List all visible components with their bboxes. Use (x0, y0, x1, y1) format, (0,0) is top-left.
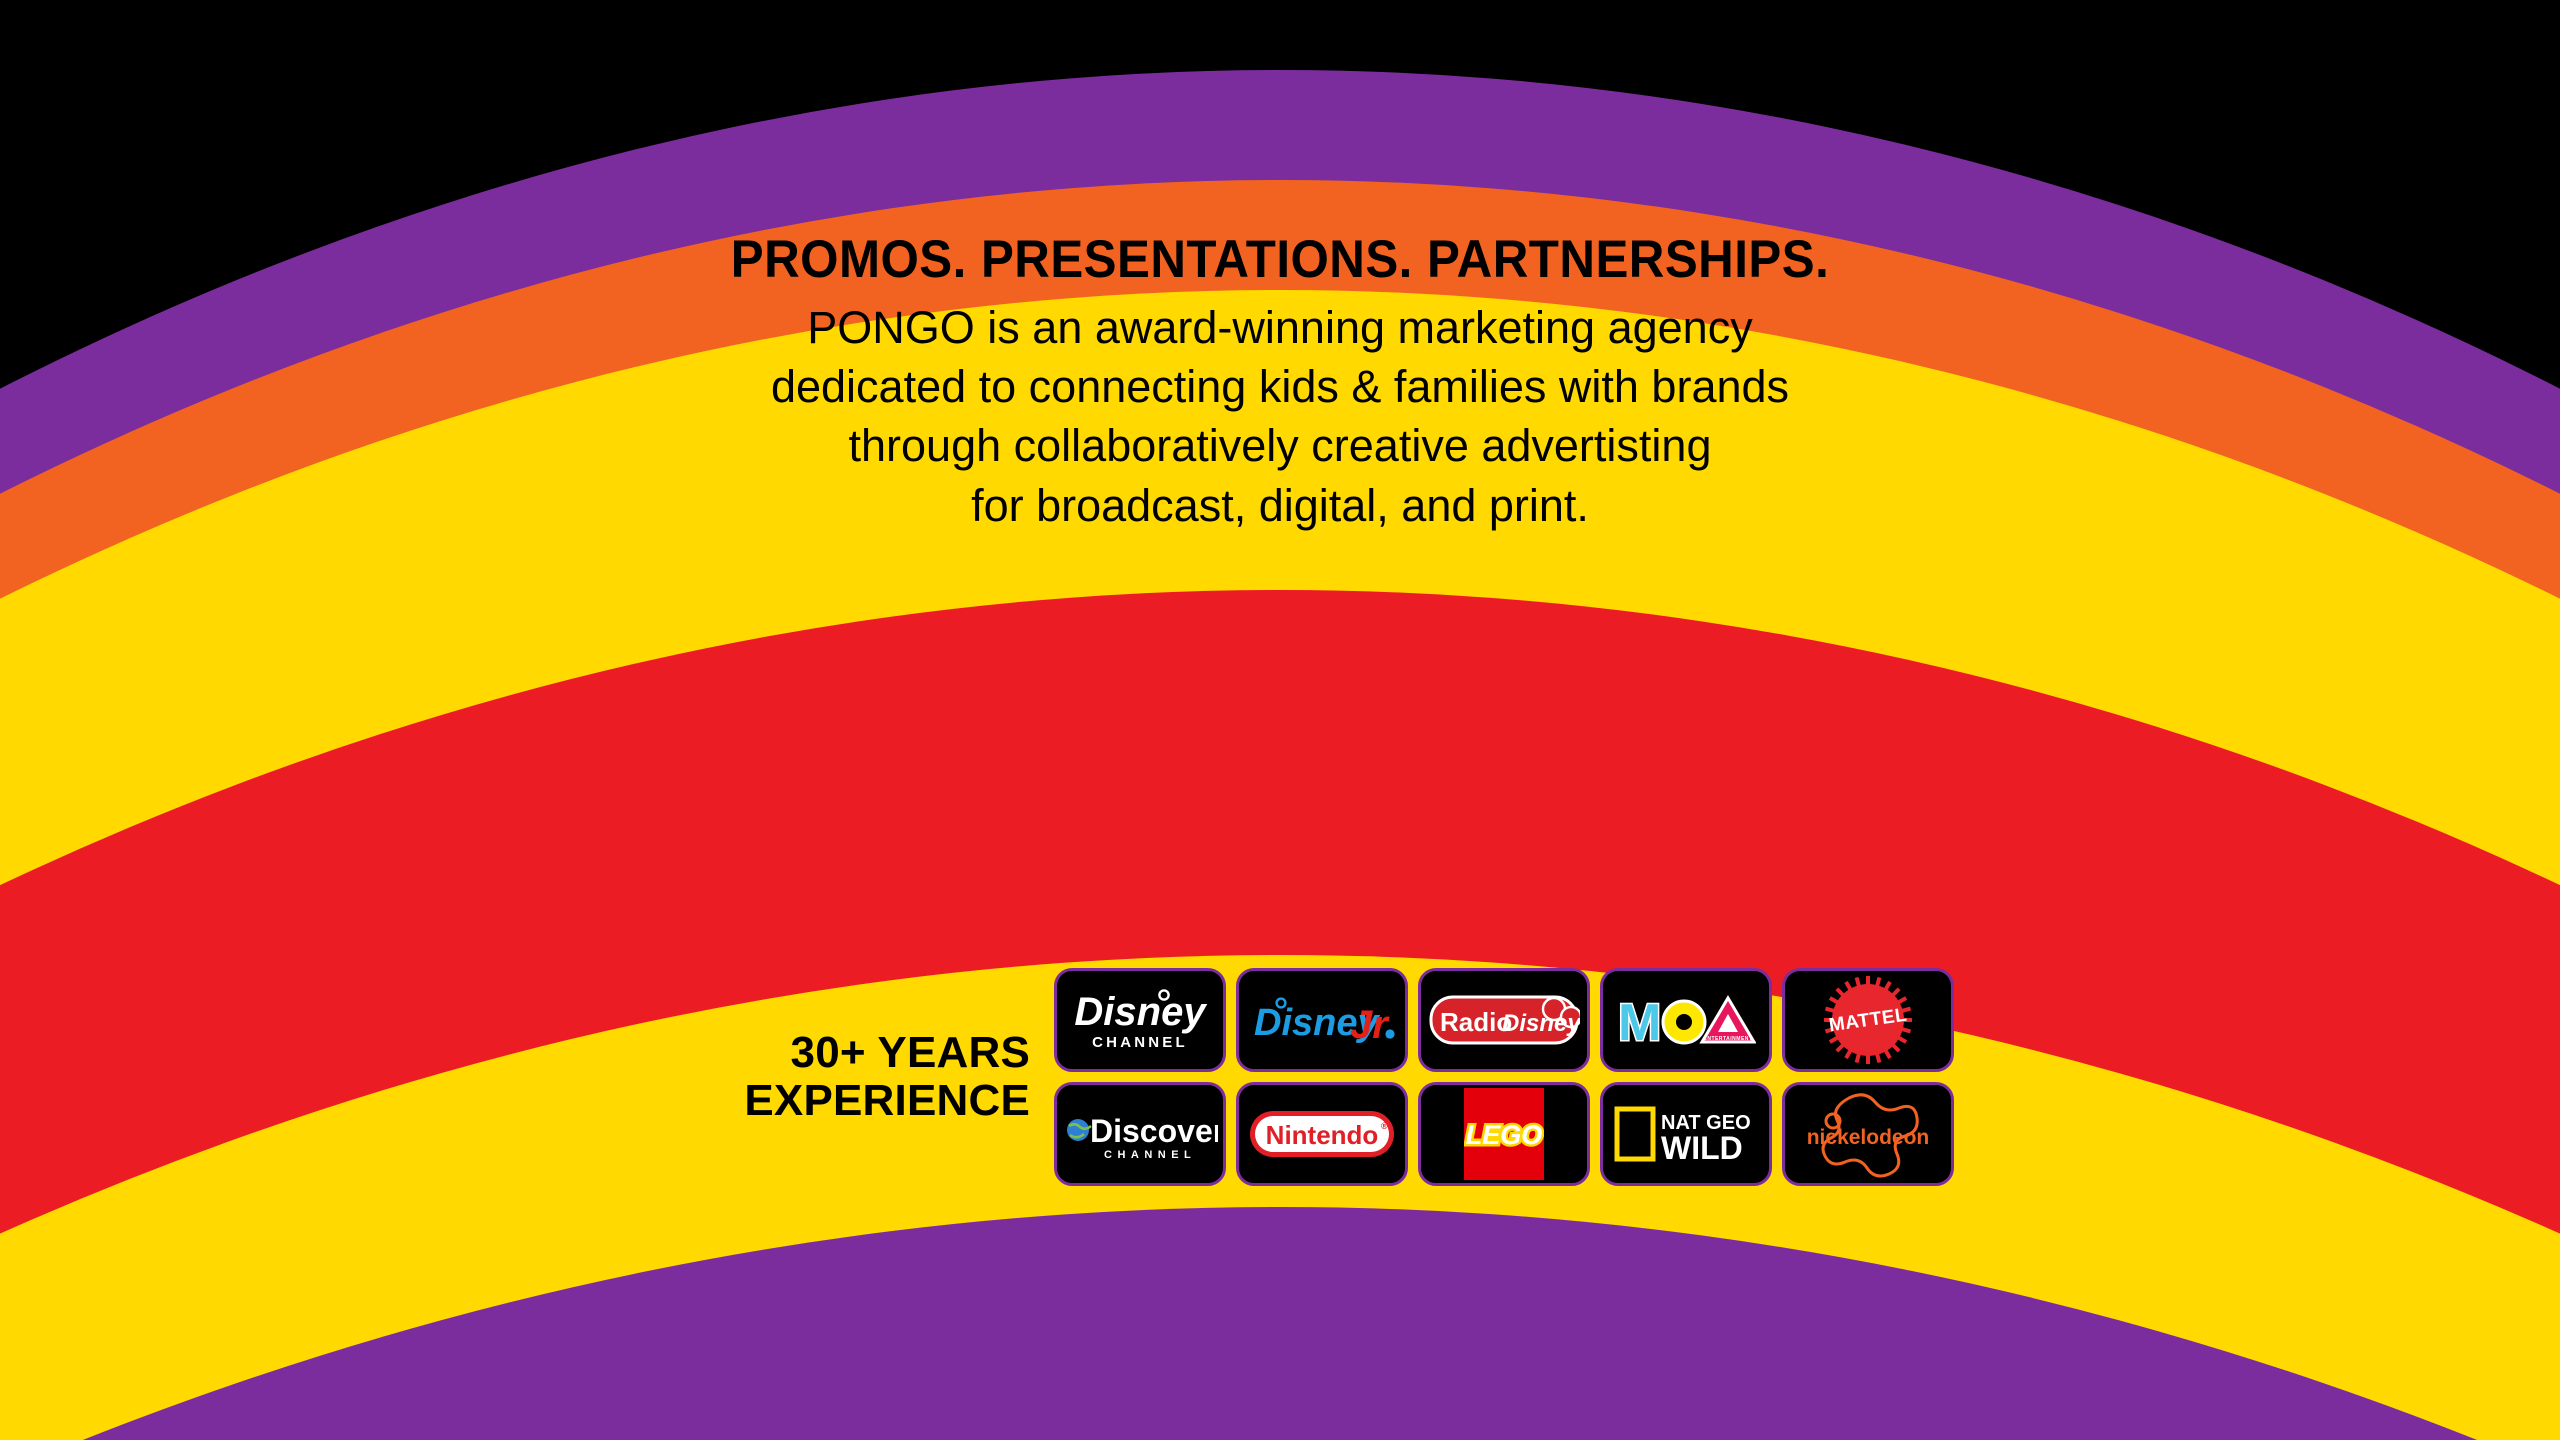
banner-canvas: PROMOS. PRESENTATIONS. PARTNERSHIPS. PON… (0, 0, 2560, 1440)
copy-block: PROMOS. PRESENTATIONS. PARTNERSHIPS. PON… (0, 232, 2560, 535)
radio-disney-icon: Radio Disney (1428, 987, 1580, 1053)
svg-text:CHANNEL: CHANNEL (1104, 1149, 1196, 1161)
body-copy-line-1: PONGO is an award-winning marketing agen… (0, 298, 2560, 357)
mga-icon: M ENTERTAINMENT (1616, 984, 1756, 1056)
logo-tile-mga[interactable]: M ENTERTAINMENT (1600, 968, 1772, 1072)
svg-text:Disney: Disney (1074, 990, 1207, 1034)
body-copy-line-4: for broadcast, digital, and print. (0, 476, 2560, 535)
body-copy: PONGO is an award-winning marketing agen… (0, 298, 2560, 536)
nickelodeon-icon: nickelodeon (1793, 1088, 1943, 1180)
rainbow-arc-background (0, 0, 2560, 1440)
mattel-icon: MATTEL (1822, 974, 1914, 1066)
credentials-section: 30+ YEARS EXPERIENCE Disney CHANNEL Disn… (700, 968, 1960, 1186)
disney-channel-icon: Disney CHANNEL (1065, 979, 1215, 1061)
svg-text:ENTERTAINMENT: ENTERTAINMENT (1704, 1036, 1753, 1042)
discovery-channel-icon: Discovery CHANNEL (1062, 1104, 1218, 1164)
logo-tile-mattel[interactable]: MATTEL (1782, 968, 1954, 1072)
lego-icon: LEGO LEGO (1464, 1088, 1544, 1180)
nintendo-icon: Nintendo ® (1248, 1109, 1396, 1159)
svg-text:WILD: WILD (1661, 1130, 1743, 1166)
logo-tile-discovery-channel[interactable]: Discovery CHANNEL (1054, 1082, 1226, 1186)
svg-text:Disney: Disney (1502, 1010, 1580, 1037)
nat-geo-wild-icon: NAT GEO WILD (1611, 1101, 1761, 1167)
experience-label-line-2: EXPERIENCE (700, 1077, 1030, 1125)
svg-text:nickelodeon: nickelodeon (1807, 1126, 1930, 1149)
svg-text:Jr.: Jr. (1350, 1003, 1397, 1047)
client-logo-grid: Disney CHANNEL Disney Jr. (1054, 968, 1954, 1186)
logo-tile-nickelodeon[interactable]: nickelodeon (1782, 1082, 1954, 1186)
svg-text:Discovery: Discovery (1090, 1113, 1218, 1149)
svg-text:Nintendo: Nintendo (1266, 1120, 1379, 1150)
body-copy-line-3: through collaboratively creative adverti… (0, 416, 2560, 475)
page-title: PROMOS. PRESENTATIONS. PARTNERSHIPS. (90, 232, 2471, 288)
svg-text:CHANNEL: CHANNEL (1092, 1034, 1188, 1051)
logo-tile-nintendo[interactable]: Nintendo ® (1236, 1082, 1408, 1186)
logo-tile-disney-channel[interactable]: Disney CHANNEL (1054, 968, 1226, 1072)
svg-text:®: ® (1381, 1121, 1388, 1131)
logo-tile-radio-disney[interactable]: Radio Disney (1418, 968, 1590, 1072)
experience-label-line-1: 30+ YEARS (700, 1029, 1030, 1077)
svg-text:M: M (1618, 994, 1661, 1052)
svg-text:LEGO: LEGO (1466, 1120, 1543, 1150)
experience-label: 30+ YEARS EXPERIENCE (700, 1029, 1030, 1124)
logo-tile-disney-jr[interactable]: Disney Jr. (1236, 968, 1408, 1072)
logo-tile-lego[interactable]: LEGO LEGO (1418, 1082, 1590, 1186)
body-copy-line-2: dedicated to connecting kids & families … (0, 357, 2560, 416)
logo-tile-nat-geo-wild[interactable]: NAT GEO WILD (1600, 1082, 1772, 1186)
disney-jr-icon: Disney Jr. (1246, 985, 1398, 1055)
